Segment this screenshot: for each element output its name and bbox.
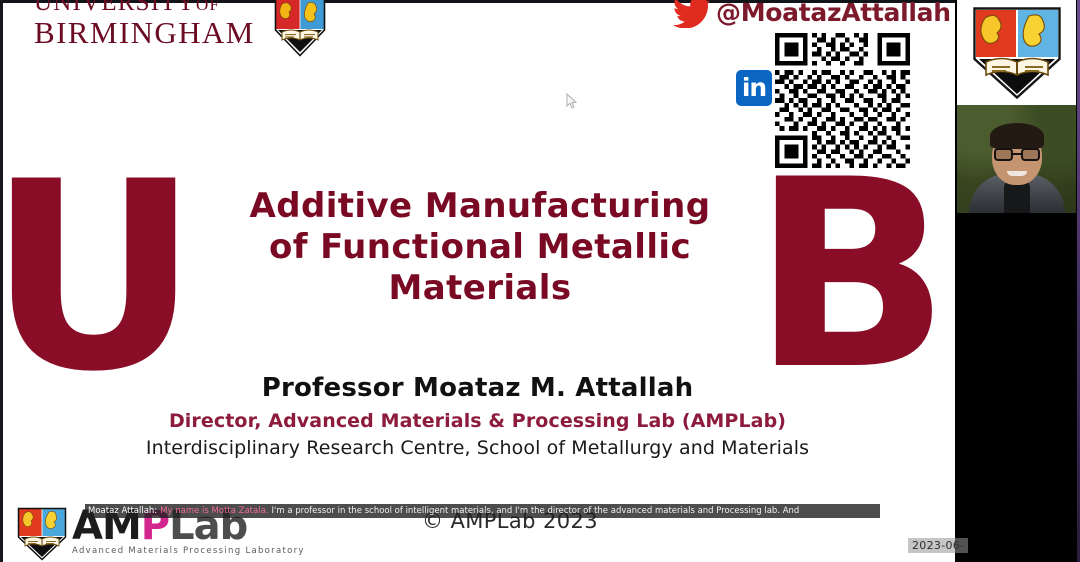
slide-title: Additive Manufacturing of Functional Met…	[180, 186, 780, 308]
mouse-pointer-icon	[566, 93, 578, 109]
glasses-bridge	[1013, 153, 1021, 155]
presenter-name: Professor Moataz M. Attallah	[0, 374, 955, 404]
twitter-handle-text: @MoatazAttallah	[716, 0, 951, 27]
caption-highlight-text: My name is Motta Zatala.	[160, 506, 268, 516]
footer-university-crest-icon	[16, 506, 68, 562]
wordmark-university: UNIVERSITY	[34, 0, 196, 16]
presenter-info: Professor Moataz M. Attallah Director, A…	[0, 374, 955, 460]
watermark-letter-u: U	[0, 148, 189, 408]
timestamp-watermark: 2023-06-	[908, 538, 968, 553]
glasses-lens-left	[994, 148, 1013, 161]
title-line-3: Materials	[180, 268, 780, 309]
participant-video-tile[interactable]	[957, 105, 1076, 213]
live-caption-bar: Moataz Attallah: My name is Motta Zatala…	[85, 504, 880, 518]
caption-body-text: I'm a professor in the school of intelli…	[272, 506, 800, 516]
watermark-letter-b: B	[752, 146, 950, 406]
presenter-role: Director, Advanced Materials & Processin…	[0, 411, 955, 433]
video-person-glasses	[994, 148, 1040, 161]
amplab-tagline: Advanced Materials Processing Laboratory	[72, 546, 302, 556]
twitter-handle-group[interactable]: @MoatazAttallah	[672, 0, 951, 28]
linkedin-icon[interactable]: in	[736, 70, 772, 106]
wordmark-of: OF	[196, 0, 220, 14]
presenter-department: Interdisciplinary Research Centre, Schoo…	[0, 438, 955, 460]
presentation-slide: U B UNIVERSITYOF BIRMINGHAM	[0, 0, 955, 562]
twitter-bird-icon	[672, 0, 712, 28]
caption-speaker-name: Moataz Attallah:	[88, 506, 157, 516]
university-crest-icon	[272, 0, 328, 58]
panel-university-crest-icon	[957, 0, 1076, 105]
title-line-2: of Functional Metallic	[180, 227, 780, 268]
video-person-hair	[990, 123, 1044, 149]
participant-panel	[955, 0, 1080, 562]
glasses-lens-right	[1021, 148, 1040, 161]
video-person-mouth	[1007, 171, 1027, 176]
qr-code-icon	[775, 33, 910, 168]
title-line-1: Additive Manufacturing	[180, 186, 780, 227]
screen-capture: U B UNIVERSITYOF BIRMINGHAM	[0, 0, 1080, 562]
